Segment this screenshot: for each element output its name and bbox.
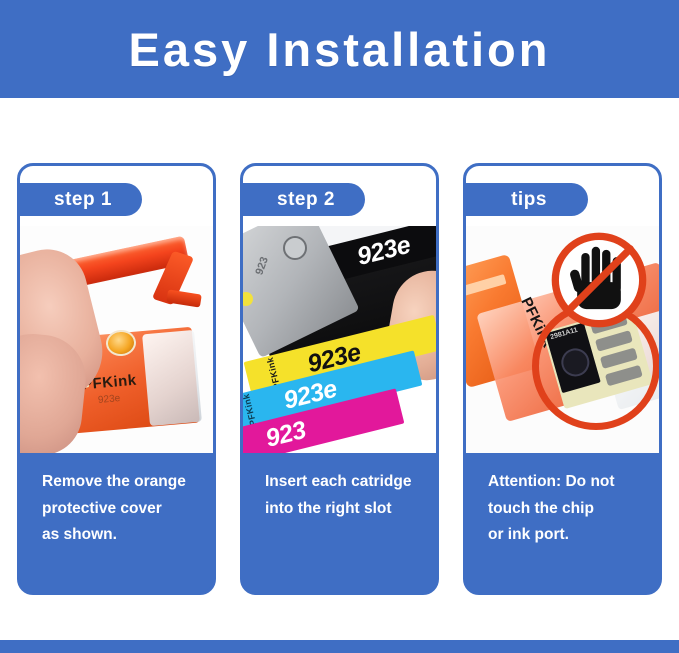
step-2-caption: Insert each catridge into the right slot	[243, 453, 436, 592]
step-card-1: step 1 PFKink 923e Remove the orang	[17, 163, 216, 595]
step-1-badge: step 1	[20, 183, 142, 216]
no-touch-icon	[547, 228, 651, 332]
step-2-badge-label: step 2	[267, 190, 335, 209]
step-2-photo: PFKink 923e PFKink 923e PFKink 923e PFKi…	[243, 226, 436, 453]
tips-badge-label: tips	[501, 190, 547, 209]
tips-photo: PFKink 2981A11	[466, 226, 659, 453]
step-card-2: step 2 PFKink 923e PFKink 923e PFKink 92…	[240, 163, 439, 595]
cartridge-code-label: 923	[263, 415, 309, 453]
step-1-caption: Remove the orange protective cover as sh…	[20, 453, 213, 592]
tips-badge: tips	[466, 183, 588, 216]
bottom-accent-bar	[0, 640, 679, 653]
tips-caption: Attention: Do not touch the chip or ink …	[466, 453, 659, 592]
step-2-caption-text: Insert each catridge into the right slot	[265, 469, 436, 522]
page-title: Easy Installation	[129, 26, 551, 73]
tips-caption-text: Attention: Do not touch the chip or ink …	[488, 469, 659, 549]
step-card-3-top: tips PFKink 2981A11	[466, 166, 659, 453]
step-1-caption-text: Remove the orange protective cover as sh…	[42, 469, 213, 549]
step-card-1-top: step 1 PFKink 923e	[20, 166, 213, 453]
header-banner: Easy Installation	[0, 0, 679, 98]
cartridge-code-label: 923e	[98, 393, 121, 406]
steps-card-row: step 1 PFKink 923e Remove the orang	[17, 163, 662, 595]
cartridge-brand-label: PFKink	[243, 393, 258, 427]
ink-cartridge-clear-section	[142, 330, 202, 426]
step-card-2-top: step 2 PFKink 923e PFKink 923e PFKink 92…	[243, 166, 436, 453]
step-2-badge: step 2	[243, 183, 365, 216]
step-1-badge-label: step 1	[44, 190, 112, 209]
step-1-photo: PFKink 923e	[20, 226, 213, 453]
printer-power-button-icon	[283, 236, 307, 260]
step-card-3: tips PFKink 2981A11	[463, 163, 662, 595]
